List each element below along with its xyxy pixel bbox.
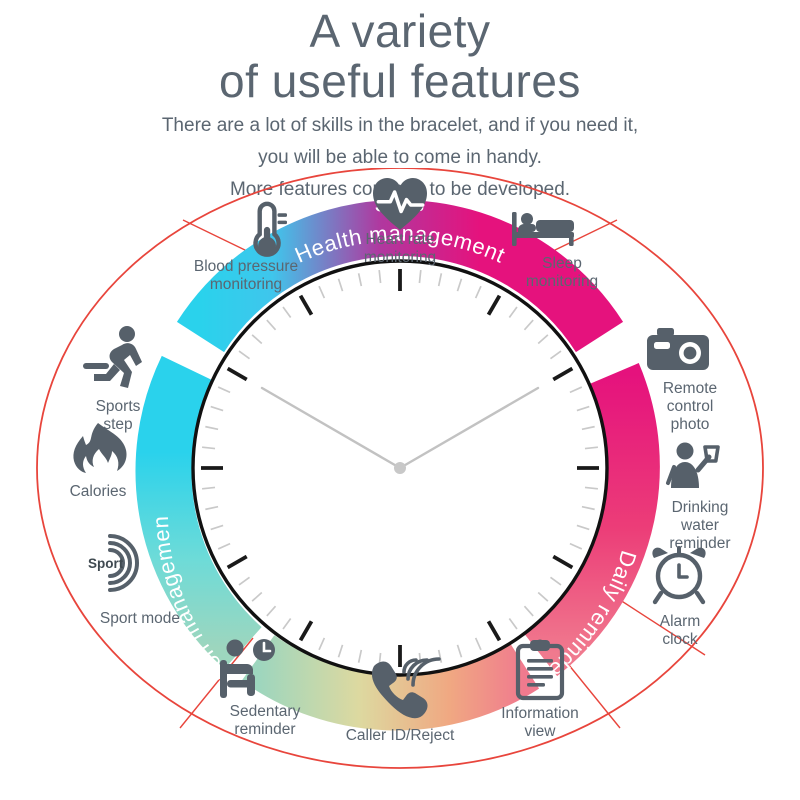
feature-label-calories-line1: Calories xyxy=(70,483,127,500)
feature-drinking-water-reminder[interactable]: Drinking water reminder xyxy=(668,443,731,553)
feature-alarm-clock[interactable]: Alarm clock xyxy=(652,546,705,648)
feature-label-sleep-line1: Sleep xyxy=(542,255,582,272)
feature-label-drinking-water-line2: water xyxy=(680,517,719,534)
svg-text:Sport: Sport xyxy=(88,556,124,571)
feature-label-sedentary-line2: reminder xyxy=(234,721,295,738)
person-drinking-icon xyxy=(668,443,718,489)
feature-label-sedentary-line1: Sedentary xyxy=(230,703,301,720)
camera-icon xyxy=(647,328,709,370)
feature-label-remote-photo-line1: Remote xyxy=(663,380,717,397)
alarm-clock-icon xyxy=(652,546,705,602)
feature-label-information-view-line2: view xyxy=(524,723,556,740)
running-person-icon xyxy=(86,326,142,388)
subtitle-line-2: you will be able to come in handy. xyxy=(0,145,800,170)
watch-clock-face[interactable] xyxy=(193,261,607,675)
subtitle-line-1: There are a lot of skills in the bracele… xyxy=(0,113,800,138)
feature-label-information-view-line1: Information xyxy=(501,705,579,722)
feature-label-sports-step-line1: Sports xyxy=(96,398,141,415)
feature-label-sports-step-line2: step xyxy=(103,416,132,433)
feature-label-sport-mode-line1: Sport mode xyxy=(100,610,180,627)
feature-label-sleep-line2: monitoring xyxy=(526,273,598,290)
page-title-line-2: of useful features xyxy=(0,56,800,106)
feature-label-heart-rate-line2: monitoring xyxy=(364,249,436,266)
feature-label-alarm-clock-line2: clock xyxy=(662,631,698,648)
feature-label-remote-photo-line3: photo xyxy=(671,416,710,433)
feature-label-remote-photo-line2: control xyxy=(667,398,714,415)
feature-calories[interactable]: Calories xyxy=(70,423,127,500)
sport-signal-icon: Sport xyxy=(88,536,137,590)
feature-remote-control-photo[interactable]: Remote control photo xyxy=(647,328,717,433)
feature-label-blood-pressure-line1: Blood pressure xyxy=(194,258,298,275)
clock-center-pin xyxy=(394,462,406,474)
page-title-line-1: A variety xyxy=(0,6,800,56)
feature-label-caller-id-line1: Caller ID/Reject xyxy=(346,727,455,744)
feature-label-drinking-water-line1: Drinking xyxy=(672,499,729,516)
feature-sports-step[interactable]: Sports step xyxy=(86,326,142,433)
feature-label-alarm-clock-line1: Alarm xyxy=(660,613,700,630)
feature-wheel: Health management Daily reminder Jobs Mo… xyxy=(0,168,800,800)
feature-label-blood-pressure-line2: monitoring xyxy=(210,276,282,293)
feature-label-heart-rate-line1: Heart rate xyxy=(366,231,435,248)
